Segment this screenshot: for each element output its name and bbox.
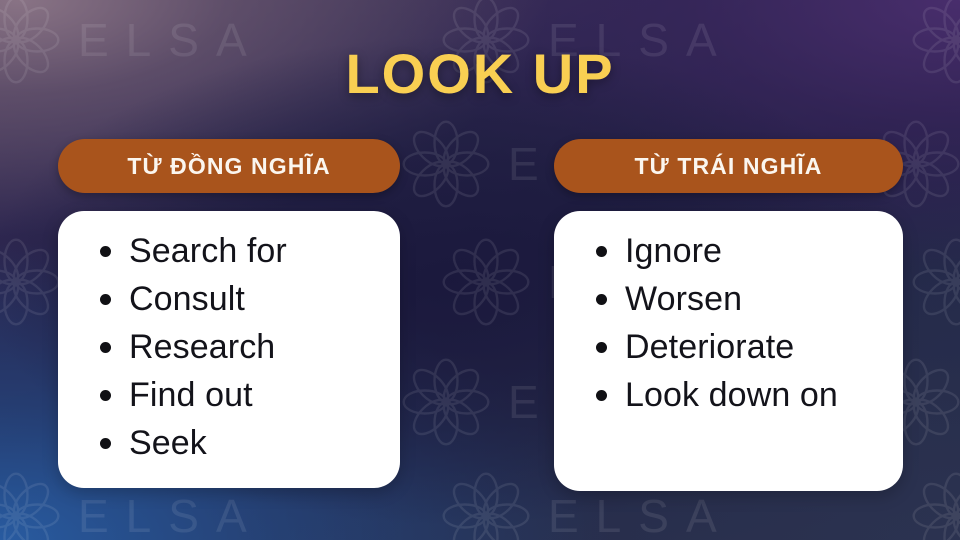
list-item-label: Find out: [129, 377, 253, 413]
list-item-label: Deteriorate: [625, 329, 794, 365]
synonyms-badge-label: TỪ ĐỒNG NGHĨA: [127, 153, 330, 180]
list-item-label: Consult: [129, 281, 245, 317]
antonyms-badge-label: TỪ TRÁI NGHĨA: [635, 153, 823, 180]
list-item-label: Research: [129, 329, 275, 365]
list-item-label: Ignore: [625, 233, 722, 269]
bullet-icon: [100, 294, 111, 305]
list-item: Look down on: [576, 377, 883, 413]
slide-canvas: ELSAELSAELSAELSAELSAELSAELSAELSAELSAELSA…: [0, 0, 960, 540]
synonyms-list: Search forConsultResearchFind outSeek: [80, 233, 380, 461]
antonyms-list: IgnoreWorsenDeteriorateLook down on: [576, 233, 883, 413]
synonyms-card: Search forConsultResearchFind outSeek: [58, 211, 400, 488]
synonyms-column: TỪ ĐỒNG NGHĨA Search forConsultResearchF…: [58, 139, 400, 488]
page-title: LOOK UP: [0, 46, 960, 102]
list-item-label: Worsen: [625, 281, 742, 317]
bullet-icon: [100, 246, 111, 257]
synonyms-badge: TỪ ĐỒNG NGHĨA: [58, 139, 400, 193]
antonyms-badge: TỪ TRÁI NGHĨA: [554, 139, 903, 193]
list-item: Seek: [80, 425, 380, 461]
list-item: Consult: [80, 281, 380, 317]
list-item: Deteriorate: [576, 329, 883, 365]
bullet-icon: [596, 390, 607, 401]
list-item: Research: [80, 329, 380, 365]
bullet-icon: [596, 294, 607, 305]
list-item: Find out: [80, 377, 380, 413]
list-item: Search for: [80, 233, 380, 269]
list-item-label: Look down on: [625, 377, 838, 413]
list-item-label: Seek: [129, 425, 207, 461]
list-item-label: Search for: [129, 233, 287, 269]
bullet-icon: [596, 246, 607, 257]
antonyms-card: IgnoreWorsenDeteriorateLook down on: [554, 211, 903, 491]
bullet-icon: [100, 438, 111, 449]
antonyms-column: TỪ TRÁI NGHĨA IgnoreWorsenDeteriorateLoo…: [554, 139, 903, 491]
bullet-icon: [100, 390, 111, 401]
list-item: Worsen: [576, 281, 883, 317]
bullet-icon: [100, 342, 111, 353]
bullet-icon: [596, 342, 607, 353]
list-item: Ignore: [576, 233, 883, 269]
